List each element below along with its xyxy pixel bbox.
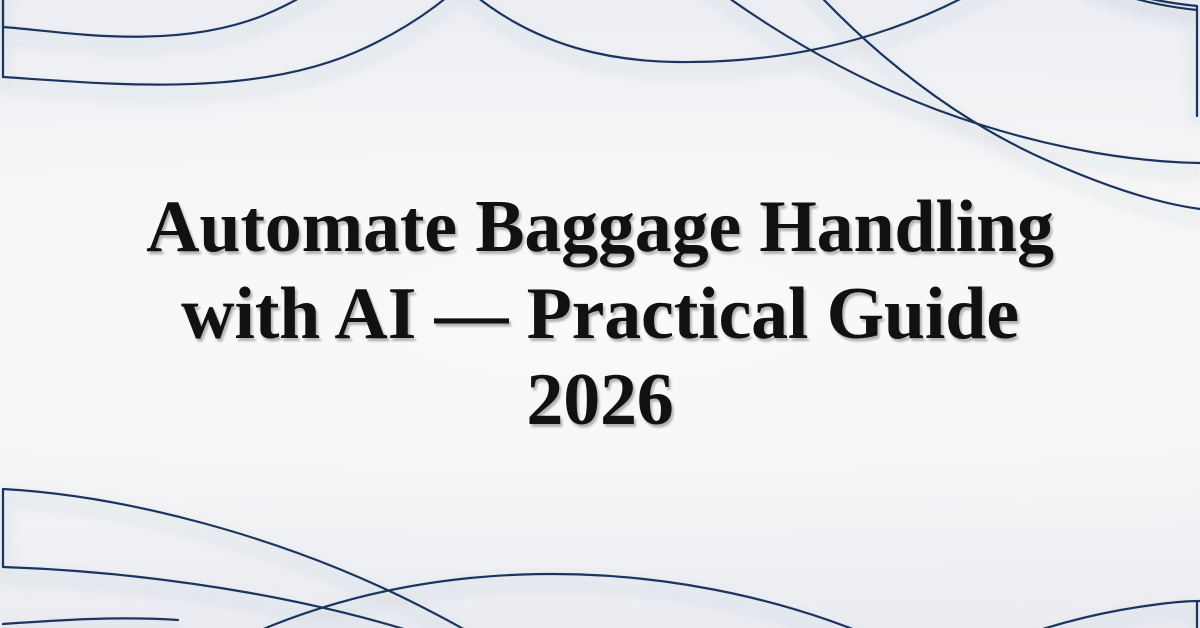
page-title: Automate Baggage Handling with AI — Prac… [135, 184, 1065, 444]
hero-card: Automate Baggage Handling with AI — Prac… [0, 0, 1200, 628]
headline-container: Automate Baggage Handling with AI — Prac… [0, 0, 1200, 628]
